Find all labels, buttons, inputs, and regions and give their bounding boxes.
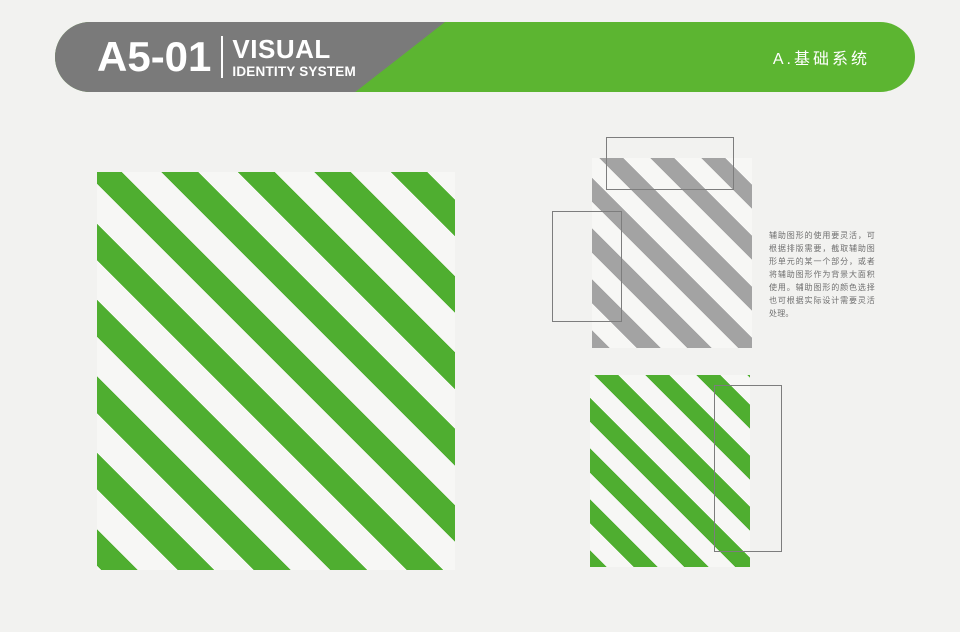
main-pattern-green-stripes — [97, 172, 455, 570]
section-label: A.基础系统 — [773, 22, 870, 92]
header-bar: A5-01 VISUAL IDENTITY SYSTEM A.基础系统 — [55, 22, 915, 92]
header-left-group: A5-01 VISUAL IDENTITY SYSTEM — [97, 22, 356, 92]
title-visual: VISUAL — [232, 36, 356, 62]
page-code: A5-01 — [97, 36, 221, 78]
crop-rect-left — [552, 211, 622, 322]
crop-rect-bottom — [714, 385, 782, 552]
main-pattern-block — [97, 172, 455, 570]
title-identity-system: IDENTITY SYSTEM — [232, 65, 356, 79]
header-title-group: VISUAL IDENTITY SYSTEM — [232, 36, 356, 79]
crop-rect-top — [606, 137, 734, 190]
caption-text: 辅助图形的使用要灵活，可根据排版需要，截取辅助图形单元的某一个部分，或者将辅助图… — [769, 230, 875, 321]
page-canvas: A5-01 VISUAL IDENTITY SYSTEM A.基础系统 辅助图形… — [0, 0, 960, 632]
header-divider — [221, 36, 223, 78]
